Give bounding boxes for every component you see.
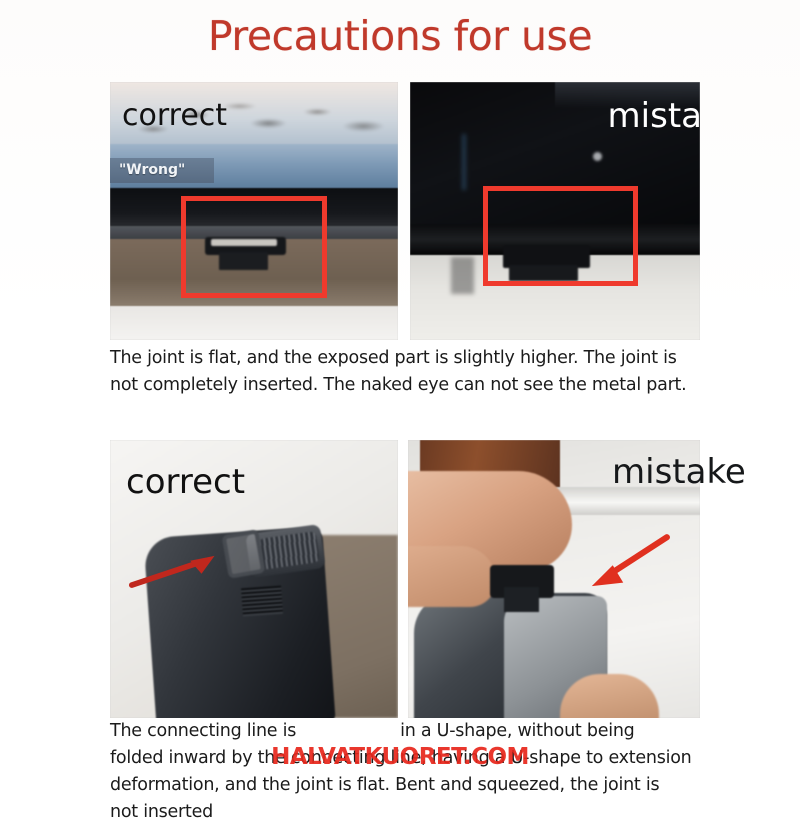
site-watermark: HALVATKUORET.COM: [0, 744, 800, 770]
panel-label-mistake-top: mista: [608, 96, 700, 136]
photo-shadow: [451, 257, 474, 293]
red-arrow-right: [127, 551, 231, 590]
panel-photo-top-right: mista: [410, 82, 700, 340]
caption-bottom-part-a: The connecting line is: [110, 721, 296, 741]
panel-photo-bottom-left: correct: [110, 440, 398, 718]
photo-connector-cable: [504, 587, 539, 612]
page-title: Precautions for use: [0, 12, 800, 60]
red-highlight-rectangle-top-left: [181, 196, 327, 298]
red-arrow-down-left: [566, 532, 677, 593]
caption-bottom: The connecting line isin a U-shape, with…: [110, 718, 692, 826]
photo-screen-glow: [593, 152, 602, 161]
wrong-badge: "Wrong": [110, 158, 214, 183]
photo-floor-region: [110, 306, 398, 340]
red-highlight-rectangle-top-right: [483, 186, 638, 286]
photo-screen-reflection: [462, 134, 466, 191]
caption-top: The joint is flat, and the exposed part …: [110, 345, 692, 399]
photo-finger-secondary: [408, 546, 496, 607]
panel-label-mistake-bottom: mistake: [612, 452, 746, 492]
photo-device-vents: [242, 586, 284, 617]
panel-photo-top-left: correct "Wrong": [110, 82, 398, 340]
panel-label-correct-bottom: correct: [126, 462, 245, 502]
panel-label-correct-top: correct: [122, 98, 227, 133]
